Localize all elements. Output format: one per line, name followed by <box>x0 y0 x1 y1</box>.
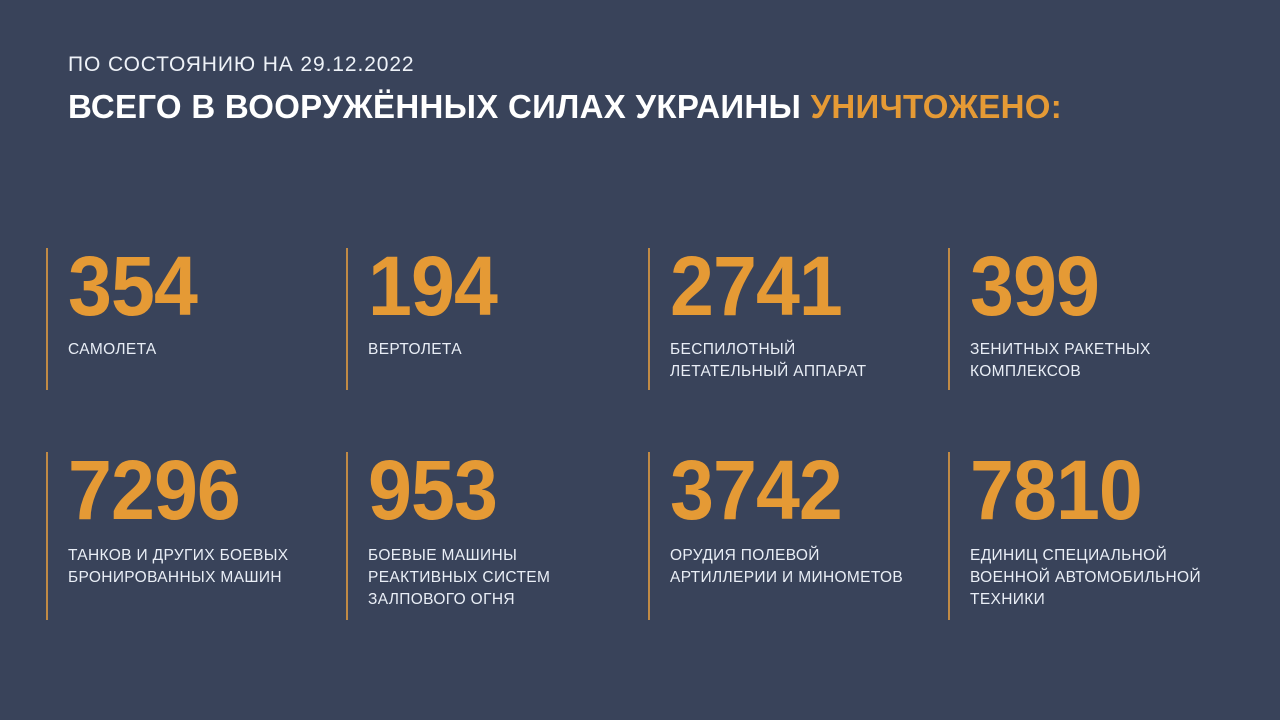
stats-grid: 354 САМОЛЕТА 194 ВЕРТОЛЕТА 2741 БЕСПИЛОТ… <box>46 248 1242 620</box>
stats-row-2: 7296 ТАНКОВ И ДРУГИХ БОЕВЫХ БРОНИРОВАННЫ… <box>46 452 1242 620</box>
stat-card-air-defence: 399 ЗЕНИТНЫХ РАКЕТНЫХ КОМПЛЕКСОВ <box>948 248 1242 390</box>
stat-card-military-vehicles: 7810 ЕДИНИЦ СПЕЦИАЛЬНОЙ ВОЕННОЙ АВТОМОБИ… <box>948 452 1242 620</box>
page-title: ВСЕГО В ВООРУЖЁННЫХ СИЛАХ УКРАИНЫ УНИЧТО… <box>68 88 1228 126</box>
stat-card-mlrs: 953 БОЕВЫЕ МАШИНЫ РЕАКТИВНЫХ СИСТЕМ ЗАЛП… <box>346 452 648 620</box>
stat-card-aircraft: 354 САМОЛЕТА <box>46 248 346 390</box>
stat-label: ОРУДИЯ ПОЛЕВОЙ АРТИЛЛЕРИИ И МИНОМЕТОВ <box>670 545 948 589</box>
stat-value: 399 <box>970 248 1226 325</box>
stat-card-tanks: 7296 ТАНКОВ И ДРУГИХ БОЕВЫХ БРОНИРОВАННЫ… <box>46 452 346 620</box>
stat-card-helicopters: 194 ВЕРТОЛЕТА <box>346 248 648 390</box>
infographic-poster: ПО СОСТОЯНИЮ НА 29.12.2022 ВСЕГО В ВООРУ… <box>0 0 1280 720</box>
stat-card-artillery: 3742 ОРУДИЯ ПОЛЕВОЙ АРТИЛЛЕРИИ И МИНОМЕТ… <box>648 452 948 620</box>
stat-label: ВЕРТОЛЕТА <box>368 339 648 361</box>
stat-value: 3742 <box>670 452 931 529</box>
stat-value: 354 <box>68 248 329 325</box>
stats-row-1: 354 САМОЛЕТА 194 ВЕРТОЛЕТА 2741 БЕСПИЛОТ… <box>46 248 1242 390</box>
stat-value: 7296 <box>68 452 329 529</box>
stat-label: ЗЕНИТНЫХ РАКЕТНЫХ КОМПЛЕКСОВ <box>970 339 1242 383</box>
report-date-line: ПО СОСТОЯНИЮ НА 29.12.2022 <box>68 52 1228 77</box>
stat-label: ТАНКОВ И ДРУГИХ БОЕВЫХ БРОНИРОВАННЫХ МАШ… <box>68 545 346 589</box>
stat-card-uav: 2741 БЕСПИЛОТНЫЙ ЛЕТАТЕЛЬНЫЙ АППАРАТ <box>648 248 948 390</box>
stat-label: БЕСПИЛОТНЫЙ ЛЕТАТЕЛЬНЫЙ АППАРАТ <box>670 339 948 383</box>
stat-label: БОЕВЫЕ МАШИНЫ РЕАКТИВНЫХ СИСТЕМ ЗАЛПОВОГ… <box>368 545 648 611</box>
page-title-accent: УНИЧТОЖЕНО: <box>811 88 1062 125</box>
stat-value: 194 <box>368 248 631 325</box>
page-title-main: ВСЕГО В ВООРУЖЁННЫХ СИЛАХ УКРАИНЫ <box>68 88 811 125</box>
poster-header: ПО СОСТОЯНИЮ НА 29.12.2022 ВСЕГО В ВООРУ… <box>68 52 1228 126</box>
stat-label: ЕДИНИЦ СПЕЦИАЛЬНОЙ ВОЕННОЙ АВТОМОБИЛЬНОЙ… <box>970 545 1242 611</box>
stat-value: 2741 <box>670 248 931 325</box>
stat-label: САМОЛЕТА <box>68 339 346 361</box>
stat-value: 7810 <box>970 452 1226 529</box>
stat-value: 953 <box>368 452 631 529</box>
